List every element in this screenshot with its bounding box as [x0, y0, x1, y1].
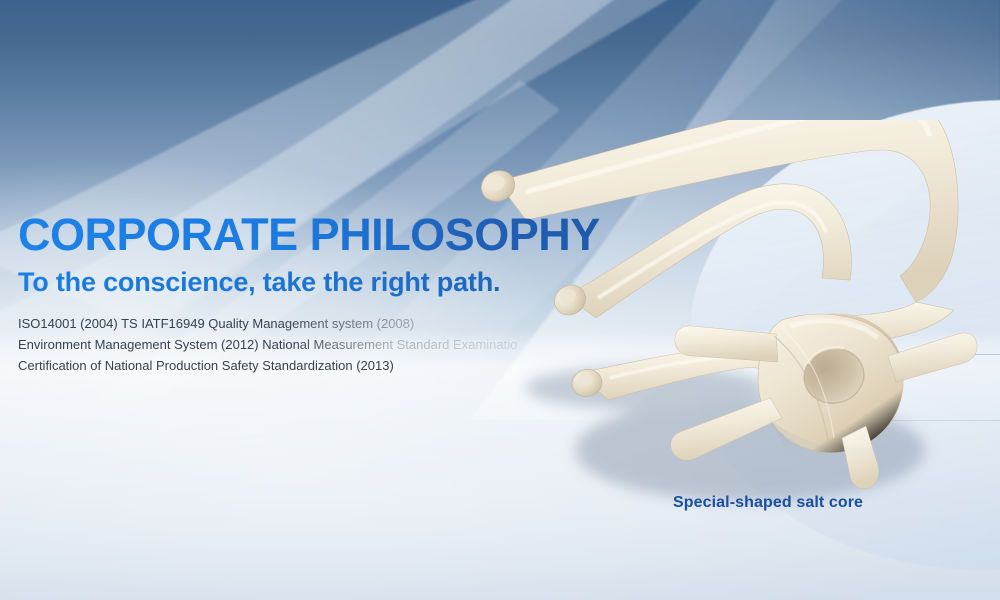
- certification-line: Environment Management System (2012) Nat…: [18, 334, 638, 355]
- page-subtitle: To the conscience, take the right path.: [18, 267, 638, 297]
- headline-text-block: CORPORATE PHILOSOPHY To the conscience, …: [18, 210, 638, 376]
- corporate-philosophy-banner: CORPORATE PHILOSOPHY To the conscience, …: [0, 0, 1000, 600]
- product-caption: Special-shaped salt core: [673, 494, 863, 512]
- certification-list: ISO14001 (2004) TS IATF16949 Quality Man…: [18, 313, 638, 376]
- page-title: CORPORATE PHILOSOPHY: [18, 210, 638, 260]
- certification-line: Certification of National Production Saf…: [18, 355, 638, 376]
- certification-line: ISO14001 (2004) TS IATF16949 Quality Man…: [18, 313, 638, 334]
